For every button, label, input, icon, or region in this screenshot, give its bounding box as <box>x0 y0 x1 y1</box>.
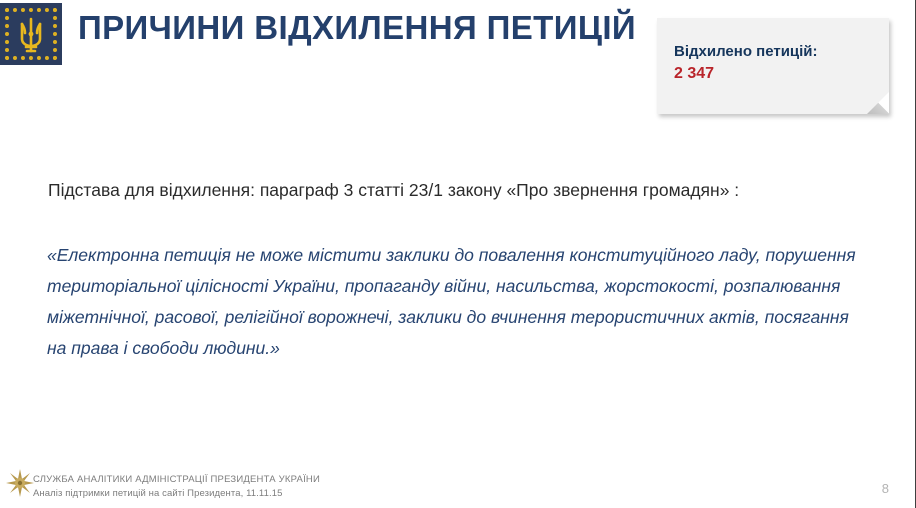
law-quote-paragraph: «Електронна петиція не може містити закл… <box>47 240 862 364</box>
rejected-petitions-note-card: Відхилено петицій: 2 347 <box>657 18 889 114</box>
page-title: ПРИЧИНИ ВІДХИЛЕННЯ ПЕТИЦІЙ <box>78 9 636 47</box>
compass-rose-star-icon <box>5 468 35 498</box>
slide-canvas: ПРИЧИНИ ВІДХИЛЕННЯ ПЕТИЦІЙ Відхилено пет… <box>0 0 916 508</box>
page-fold-corner-icon <box>867 92 889 114</box>
footer-organization: СЛУЖБА АНАЛІТИКИ АДМІНІСТРАЦІЇ ПРЕЗИДЕНТ… <box>33 474 320 485</box>
footer-subtitle: Аналіз підтримки петицій на сайті Презид… <box>33 488 320 499</box>
note-label: Відхилено петицій: <box>674 43 818 60</box>
page-number: 8 <box>882 481 889 496</box>
legal-basis-line: Підстава для відхилення: параграф 3 стат… <box>48 180 739 201</box>
ukraine-coat-of-arms-trident-icon <box>0 3 62 65</box>
footer-credits: СЛУЖБА АНАЛІТИКИ АДМІНІСТРАЦІЇ ПРЕЗИДЕНТ… <box>33 474 320 499</box>
trident-glyph-icon <box>0 3 62 65</box>
note-value: 2 347 <box>674 65 714 83</box>
